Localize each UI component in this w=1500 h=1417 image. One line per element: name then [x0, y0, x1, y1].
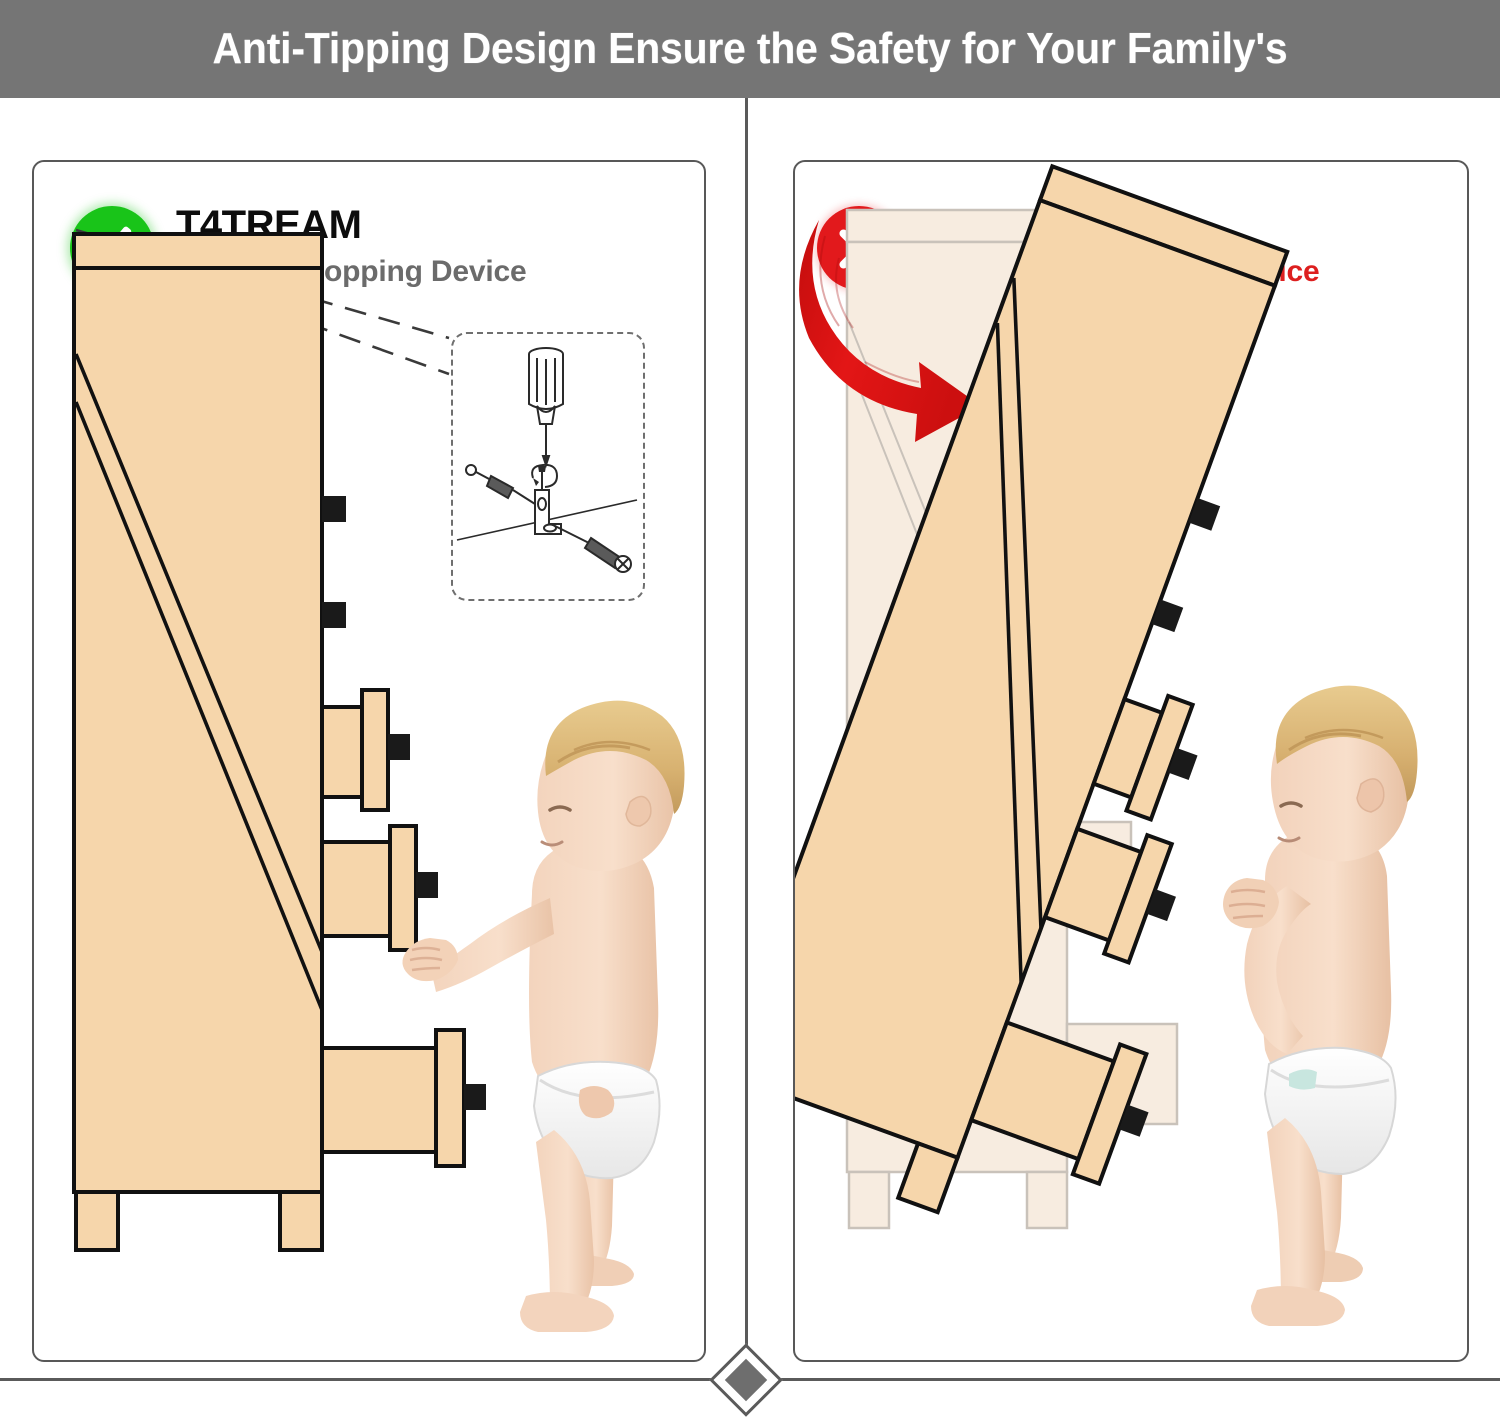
- open-drawer-3: [322, 690, 388, 810]
- screw-icon-long: [551, 524, 631, 572]
- screw-icon-top: [538, 466, 546, 490]
- dresser-body: [74, 268, 322, 1192]
- drawer-5-box: [322, 1048, 436, 1152]
- vertical-divider: [745, 98, 748, 1357]
- toddler-standing-reaching: [402, 701, 684, 1332]
- dresser-leg-left: [76, 1192, 118, 1250]
- drawer-handle-5: [464, 1084, 486, 1110]
- screwdriver-icon: [529, 348, 563, 465]
- page-title: Anti-Tipping Design Ensure the Safety fo…: [53, 0, 1448, 98]
- wall-anchor-icon: [466, 465, 535, 504]
- child-r-ear: [1357, 779, 1384, 812]
- drawer-4-front: [390, 826, 416, 950]
- child-r-foot-front: [1251, 1286, 1345, 1326]
- panel-without-anti-tip: OTHER Without Anti-topping Device: [793, 160, 1469, 1362]
- drawer-handle-1: [322, 496, 346, 522]
- toddler-standing-arms-up: [1223, 686, 1418, 1326]
- drawer-handle-2: [322, 602, 346, 628]
- header-banner: Anti-Tipping Design Ensure the Safety fo…: [0, 0, 1500, 98]
- right-illustration: [795, 162, 1467, 1360]
- ghost-leg-right: [1027, 1172, 1067, 1228]
- dresser-upright: [74, 234, 322, 1250]
- drawer-3-front: [362, 690, 388, 810]
- callout-contents: [457, 348, 637, 572]
- ghost-leg-left: [849, 1172, 889, 1228]
- open-drawer-5: [322, 1030, 464, 1166]
- drawer-handle-4: [416, 872, 438, 898]
- drawer-4-box: [322, 842, 390, 936]
- child-r-diaper-tab: [1289, 1069, 1317, 1089]
- open-drawer-4: [322, 826, 416, 950]
- dresser-top-panel: [74, 234, 322, 268]
- child-foot-front: [520, 1292, 614, 1332]
- drawer-3-box: [322, 707, 362, 797]
- left-illustration: [34, 162, 704, 1360]
- dresser-leg-right: [280, 1192, 322, 1250]
- drawer-5-front: [436, 1030, 464, 1166]
- panel-with-anti-tip: T4TREAM With Anti-topping Device: [32, 160, 706, 1362]
- drawer-handle-3: [388, 734, 410, 760]
- infographic-page: Anti-Tipping Design Ensure the Safety fo…: [0, 0, 1500, 1415]
